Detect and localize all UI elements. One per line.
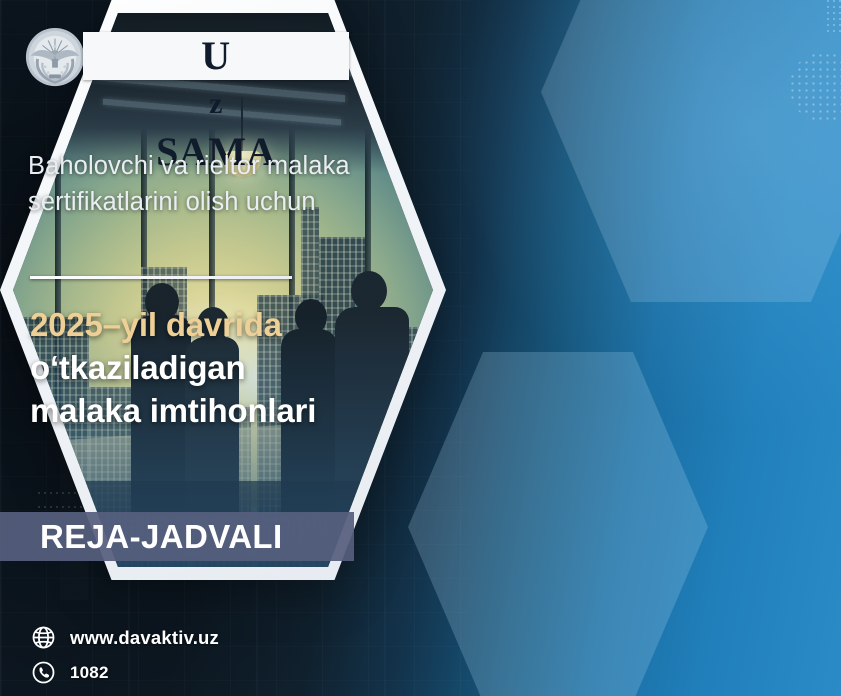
divider-rule: [30, 276, 292, 279]
uzbekistan-state-emblem-icon: [24, 26, 86, 88]
headline-line-2: o‘tkaziladigan: [30, 347, 430, 390]
contact-row-website[interactable]: www.davaktiv.uz: [30, 622, 219, 653]
hexagon-dot-pattern-a: [789, 52, 841, 122]
website-label: www.davaktiv.uz: [70, 627, 219, 649]
poster-canvas: UzSAMA Baholovchi va rieltor malaka sert…: [0, 0, 841, 696]
headline: 2025–yil davrida o‘tkaziladigan malaka i…: [30, 304, 430, 433]
hexagon-dot-pattern-b: [825, 0, 841, 32]
plan-schedule-label: REJA-JADVALI: [40, 512, 283, 561]
plan-schedule-banner: REJA-JADVALI: [0, 512, 354, 561]
subheading-line-1: Baholovchi va rieltor malaka: [28, 148, 428, 184]
contact-info: www.davaktiv.uz 1082: [30, 622, 219, 688]
logo-wordmark-plate: UzSAMA: [83, 32, 349, 80]
subheading-line-2: sertifikatlarini olish uchun: [28, 184, 428, 220]
globe-icon: [30, 625, 56, 651]
headline-line-3: malaka imtihonlari: [30, 390, 430, 433]
subheading: Baholovchi va rieltor malaka sertifikatl…: [28, 148, 428, 220]
phone-label: 1082: [70, 663, 109, 683]
phone-icon: [30, 660, 56, 686]
contact-row-phone[interactable]: 1082: [30, 657, 219, 688]
headline-line-1: 2025–yil davrida: [30, 304, 430, 347]
